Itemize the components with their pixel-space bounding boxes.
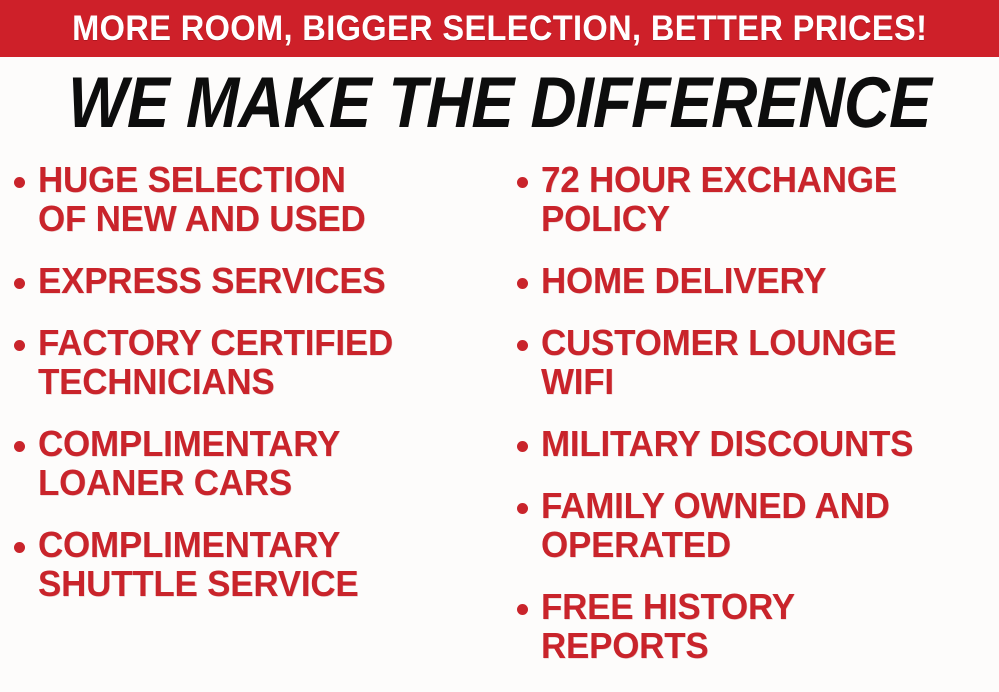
list-item-label: COMPLIMENTARY SHUTTLE SERVICE — [38, 525, 480, 603]
list-item: EXPRESS SERVICES — [14, 261, 494, 300]
list-item: COMPLIMENTARY SHUTTLE SERVICE — [14, 525, 494, 603]
list-item-label: HOME DELIVERY — [541, 261, 985, 300]
list-item: 72 HOUR EXCHANGE POLICY — [517, 160, 999, 238]
list-item: FAMILY OWNED AND OPERATED — [517, 486, 999, 564]
bullet-dot-icon — [14, 177, 25, 188]
list-item: MILITARY DISCOUNTS — [517, 424, 999, 463]
banner-headline: MORE ROOM, BIGGER SELECTION, BETTER PRIC… — [72, 11, 927, 46]
list-item: HOME DELIVERY — [517, 261, 999, 300]
bullet-dot-icon — [14, 340, 25, 351]
list-item-label: COMPLIMENTARY LOANER CARS — [38, 424, 480, 502]
bullet-dot-icon — [517, 604, 528, 615]
list-item: HUGE SELECTION OF NEW AND USED — [14, 160, 494, 238]
bullet-dot-icon — [517, 278, 528, 289]
list-item-label: 72 HOUR EXCHANGE POLICY — [541, 160, 985, 238]
bullet-dot-icon — [14, 542, 25, 553]
list-item-label: FAMILY OWNED AND OPERATED — [541, 486, 985, 564]
list-item: COMPLIMENTARY LOANER CARS — [14, 424, 494, 502]
list-item-label: MILITARY DISCOUNTS — [541, 424, 985, 463]
list-item-label: FACTORY CERTIFIED TECHNICIANS — [38, 323, 480, 401]
list-item-label: CUSTOMER LOUNGE WIFI — [541, 323, 985, 401]
bullet-dot-icon — [517, 503, 528, 514]
bullet-dot-icon — [517, 177, 528, 188]
page-title: WE MAKE THE DIFFERENCE — [67, 67, 931, 139]
list-item-label: FREE HISTORY REPORTS — [541, 587, 985, 665]
list-item-label: HUGE SELECTION OF NEW AND USED — [38, 160, 480, 238]
feature-column-left: HUGE SELECTION OF NEW AND USED EXPRESS S… — [14, 160, 494, 692]
list-item-label: EXPRESS SERVICES — [38, 261, 480, 300]
bullet-dot-icon — [14, 441, 25, 452]
list-item: FACTORY CERTIFIED TECHNICIANS — [14, 323, 494, 401]
bullet-dot-icon — [14, 278, 25, 289]
bullet-dot-icon — [517, 441, 528, 452]
top-banner: MORE ROOM, BIGGER SELECTION, BETTER PRIC… — [0, 0, 999, 57]
main-headline-area: WE MAKE THE DIFFERENCE — [0, 64, 999, 142]
list-item: CUSTOMER LOUNGE WIFI — [517, 323, 999, 401]
list-item: FREE HISTORY REPORTS — [517, 587, 999, 665]
feature-column-right: 72 HOUR EXCHANGE POLICY HOME DELIVERY CU… — [517, 160, 999, 692]
bullet-dot-icon — [517, 340, 528, 351]
promo-poster: MORE ROOM, BIGGER SELECTION, BETTER PRIC… — [0, 0, 999, 692]
feature-columns: HUGE SELECTION OF NEW AND USED EXPRESS S… — [0, 160, 999, 692]
